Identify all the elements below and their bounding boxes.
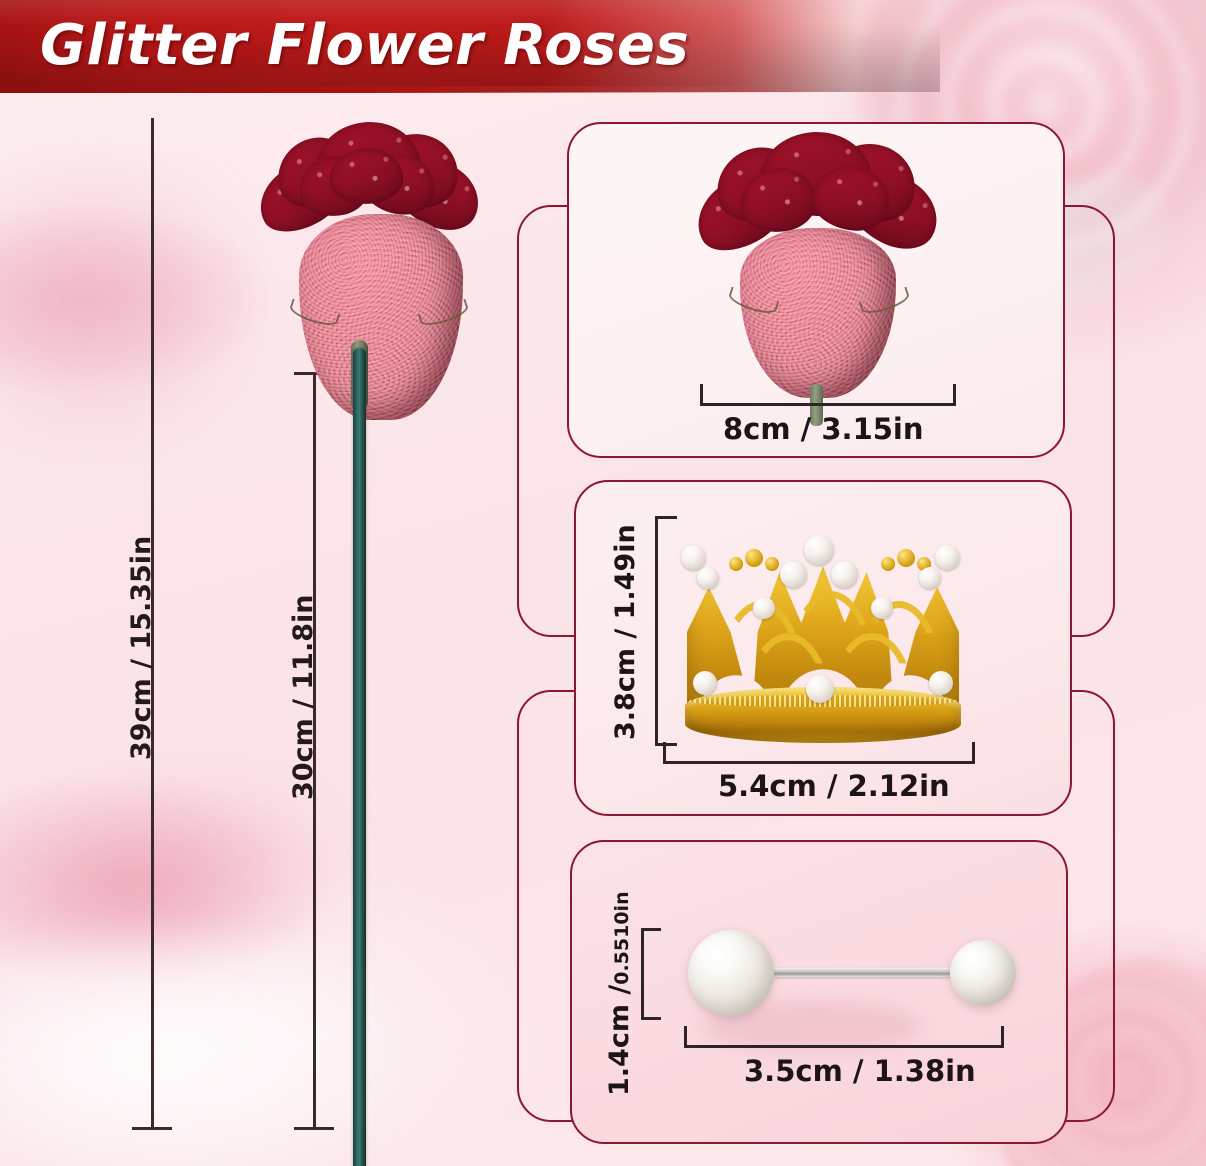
pearl [831,561,858,588]
rose-width-bracket [700,384,956,406]
pin-pearl-large [688,930,774,1016]
pin-height-bracket [641,928,661,1020]
pin-height-label: 1.4cm /0.5510in [604,891,635,1096]
crown-height-bracket [655,516,677,746]
total-length-label: 39cm / 15.35in [126,536,157,760]
pearl [780,561,807,588]
pearl [804,535,834,565]
pearl [693,671,717,695]
pin-height-label-main: 1.4cm / [604,985,635,1096]
crown-width-label: 5.4cm / 2.12in [718,769,950,803]
pearl [871,597,893,619]
pearl [681,545,706,570]
rose-head-icon [690,132,940,382]
rose-width-label: 8cm / 3.15in [723,412,924,446]
rose-head [251,122,479,352]
infographic-canvas: Glitter Flower Roses 39cm / 15.35in 30cm… [0,0,1206,1166]
pearl [806,675,834,703]
crown-icon [663,505,983,760]
banner-underline [0,86,820,93]
crown-width-bracket [663,742,975,764]
pearl [935,545,960,570]
crown-height-label: 3.8cm / 1.49in [610,524,641,740]
pin-height-label-sub: 0.5510in [611,891,633,984]
pin-width-label: 3.5cm / 1.38in [744,1054,976,1088]
pearl [919,567,941,589]
background-blur-upper-left [0,150,260,450]
pearl [697,567,719,589]
pin-width-bracket [684,1026,1004,1048]
rose-stem [353,348,366,1166]
total-length-bottom-cap [132,1127,172,1130]
page-title: Glitter Flower Roses [40,10,900,82]
pearl [753,597,775,619]
pearl [929,671,953,695]
pin-pearl-small [950,940,1016,1006]
pin-shaft [747,968,957,977]
rose-icon [233,118,495,1138]
